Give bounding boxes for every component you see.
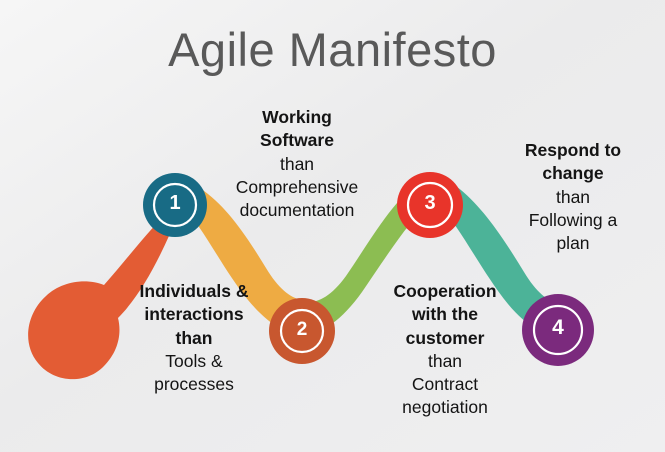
label-line: plan — [484, 232, 662, 255]
label-working-software: Working Software than Comprehensive docu… — [208, 106, 386, 222]
label-line: Tools & — [105, 350, 283, 373]
label-line: change — [484, 162, 662, 185]
node-circle-3[interactable] — [397, 172, 463, 238]
label-line: Cooperation — [356, 280, 534, 303]
label-line: Comprehensive — [208, 176, 386, 199]
label-respond-change: Respond to change than Following a plan — [484, 139, 662, 255]
label-line: customer — [356, 327, 534, 350]
infographic-canvas: Agile Manifesto 1 2 3 4 Individuals & in… — [0, 0, 665, 452]
label-line: than — [356, 350, 534, 373]
label-line: than — [208, 153, 386, 176]
label-line: than — [105, 327, 283, 350]
label-line: Respond to — [484, 139, 662, 162]
label-line: than — [484, 186, 662, 209]
label-line: interactions — [105, 303, 283, 326]
label-line: Contract — [356, 373, 534, 396]
label-individuals-interactions: Individuals & interactions than Tools & … — [105, 280, 283, 396]
label-line: negotiation — [356, 396, 534, 419]
label-line: documentation — [208, 199, 386, 222]
label-line: with the — [356, 303, 534, 326]
page-title: Agile Manifesto — [0, 22, 665, 77]
label-line: processes — [105, 373, 283, 396]
label-cooperation-customer: Cooperation with the customer than Contr… — [356, 280, 534, 420]
node-circle-1[interactable] — [143, 173, 207, 237]
label-line: Individuals & — [105, 280, 283, 303]
label-line: Working — [208, 106, 386, 129]
label-line: Software — [208, 129, 386, 152]
label-line: Following a — [484, 209, 662, 232]
